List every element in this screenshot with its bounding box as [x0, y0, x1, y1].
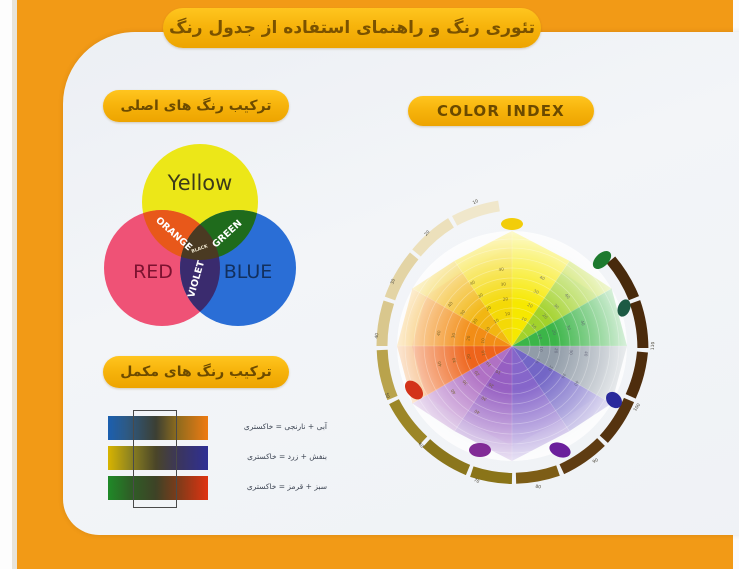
photo-left-edge-shadow [12, 0, 17, 569]
arc-seg-13 [635, 302, 643, 348]
svg-text:10: 10 [539, 346, 545, 352]
photo-left-edge [0, 0, 12, 569]
svg-text:30: 30 [568, 349, 574, 355]
complementary-equation-list: آبی + نارنجی = خاکستری بنفش + زرد = خاکس… [212, 412, 327, 502]
svg-text:30: 30 [500, 281, 506, 287]
arc-seg-4 [382, 302, 389, 346]
swatch-purple [469, 443, 491, 457]
section-heading-color-index: COLOR INDEX [408, 96, 594, 126]
complementary-equation: بنفش + زرد = خاکستری [212, 442, 327, 472]
svg-text:40: 40 [498, 266, 504, 272]
complementary-selector-outline[interactable] [133, 410, 177, 508]
svg-text:20: 20 [502, 296, 508, 302]
section-heading-complementary-mix: ترکیب رنگ های مکمل [103, 356, 289, 388]
swatch-yellow [501, 218, 523, 230]
venn-label-red: RED [133, 261, 173, 283]
arc-seg-1 [455, 206, 499, 221]
svg-text:10: 10 [504, 311, 510, 317]
arc-seg-8 [472, 472, 512, 479]
svg-text:80: 80 [535, 484, 542, 491]
complementary-equation: آبی + نارنجی = خاکستری [212, 412, 327, 442]
arc-seg-14 [611, 260, 634, 298]
svg-text:40: 40 [583, 351, 589, 357]
page-title: تئوری رنگ و راهنمای استفاده از جدول رنگ [163, 8, 541, 48]
svg-text:90: 90 [592, 457, 600, 465]
color-wheel-sectors [397, 231, 627, 461]
color-wheel-diagram: 1020 3040 1020 3040 1020 3040 1020 3040 [352, 150, 672, 510]
arc-seg-9 [516, 471, 558, 479]
svg-text:100: 100 [632, 402, 642, 412]
svg-text:40: 40 [374, 333, 381, 339]
complementary-equation: سبز + قرمز = خاکستری [212, 472, 327, 502]
primary-color-venn-diagram: Yellow RED BLUE ORANGE GREEN VIOLET BLAC… [98, 140, 303, 335]
venn-label-blue: BLUE [224, 261, 273, 283]
complementary-bar-group [108, 416, 208, 504]
poster-background: www.rangsazan-shop.com [0, 0, 739, 569]
venn-label-yellow: Yellow [167, 171, 233, 195]
svg-text:20: 20 [553, 348, 559, 354]
arc-seg-5 [382, 350, 392, 398]
svg-text:110: 110 [650, 341, 657, 350]
arc-seg-12 [631, 352, 643, 396]
section-heading-primary-mix: ترکیب رنگ های اصلی [103, 90, 289, 122]
arc-seg-2 [417, 223, 452, 253]
svg-text:10: 10 [472, 198, 480, 206]
